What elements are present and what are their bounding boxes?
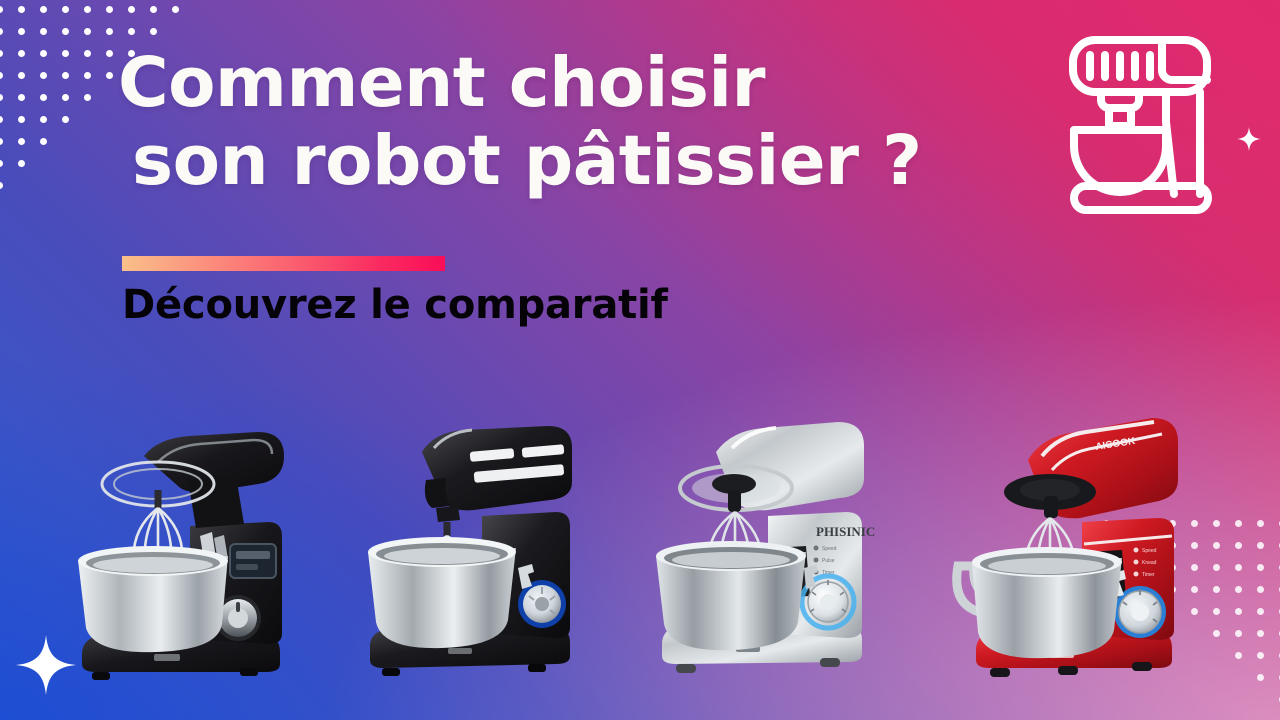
decorative-dot [40, 50, 47, 57]
decorative-dot [0, 50, 3, 57]
svg-text:Timer: Timer [1142, 572, 1155, 578]
decorative-dot [18, 28, 25, 35]
decorative-dot [40, 94, 47, 101]
decorative-dot [62, 6, 69, 13]
decorative-dot [84, 72, 91, 79]
decorative-dot [0, 72, 3, 79]
decorative-dot [40, 138, 47, 145]
decorative-dot [84, 50, 91, 57]
page-title-line-2: son robot pâtissier ? [118, 122, 998, 200]
page-title-line-1: Comment choisir [118, 44, 998, 122]
decorative-dot [150, 6, 157, 13]
product-row: PHISINIC Speed Pulse Timer [0, 412, 1280, 712]
decorative-dot [0, 138, 3, 145]
svg-text:Pulse: Pulse [822, 558, 835, 564]
decorative-dot [18, 72, 25, 79]
decorative-dot [128, 28, 135, 35]
decorative-dot [0, 160, 3, 167]
decorative-dot [18, 138, 25, 145]
product-brand-label: PHISINIC [816, 524, 875, 539]
decorative-dot [18, 50, 25, 57]
decorative-dot [18, 116, 25, 123]
decorative-dot [128, 6, 135, 13]
decorative-dot [18, 160, 25, 167]
decorative-dot [40, 6, 47, 13]
decorative-dot [62, 116, 69, 123]
decorative-dot [0, 94, 3, 101]
decorative-dot [62, 50, 69, 57]
decorative-dot [84, 94, 91, 101]
decorative-dot [40, 72, 47, 79]
decorative-dot [0, 116, 3, 123]
decorative-dot [0, 6, 3, 13]
decorative-dot [62, 28, 69, 35]
decorative-dot [0, 182, 3, 189]
decorative-dot [40, 116, 47, 123]
accent-gradient-bar [122, 256, 445, 271]
product-image-stand-mixer-black-striped [352, 424, 596, 682]
decorative-dot [62, 94, 69, 101]
decorative-dot [84, 28, 91, 35]
decorative-dot [172, 6, 179, 13]
decorative-dot [106, 6, 113, 13]
decorative-dot [62, 72, 69, 79]
svg-text:Speed: Speed [822, 546, 837, 552]
headline-block: Comment choisir son robot pâtissier ? [118, 44, 998, 200]
product-image-stand-mixer-black-digital [62, 418, 310, 690]
decorative-dot [18, 6, 25, 13]
product-image-stand-mixer-red: Speed Knead Timer [950, 416, 1196, 690]
decorative-dot [18, 94, 25, 101]
decorative-dot [106, 28, 113, 35]
decorative-dot [84, 6, 91, 13]
product-image-stand-mixer-silver: PHISINIC Speed Pulse Timer [640, 420, 892, 684]
subtitle: Découvrez le comparatif [122, 281, 668, 329]
svg-text:Speed: Speed [1142, 548, 1157, 554]
svg-text:Knead: Knead [1142, 560, 1157, 566]
decorative-dot [106, 50, 113, 57]
decorative-dot [40, 28, 47, 35]
decorative-dot [150, 28, 157, 35]
promo-banner: Comment choisir son robot pâtissier ? Dé… [0, 0, 1280, 720]
decorative-dot [0, 28, 3, 35]
stand-mixer-icon [1040, 26, 1240, 231]
decorative-dot [106, 72, 113, 79]
